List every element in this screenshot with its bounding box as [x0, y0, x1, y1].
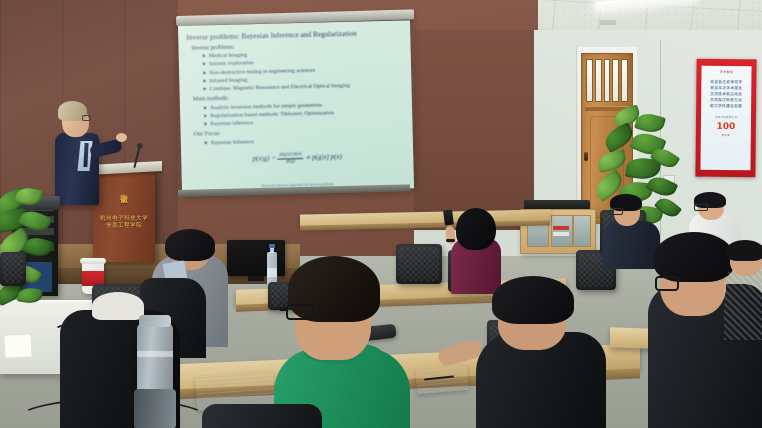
- poster-subtitle: 信息工程学院主办: [715, 114, 737, 118]
- formula-denominator: p(g): [278, 159, 304, 165]
- door-glass-pane: [604, 59, 611, 102]
- torso: [602, 221, 660, 269]
- chair[interactable]: [396, 244, 442, 284]
- thermos-base: [134, 389, 176, 428]
- poster-header: 学术报告: [720, 70, 733, 74]
- smartphone-icon[interactable]: [443, 210, 454, 226]
- bottle-cap: [269, 244, 275, 248]
- hair: [654, 232, 734, 282]
- door-glass-pane: [621, 59, 628, 102]
- door-handle[interactable]: [584, 152, 588, 161]
- bottle-label: [267, 268, 277, 277]
- formula-fraction: p(g|x) p(x) p(g): [277, 152, 303, 165]
- poster-logo: 100: [716, 122, 735, 131]
- thermos-band: [137, 351, 173, 357]
- cabinet-glass-door[interactable]: [573, 215, 591, 247]
- podium-text: 杭州电子科技大学 信息工程学院: [97, 216, 151, 231]
- formula-lhs: p(x|g): [253, 155, 270, 163]
- glasses-icon: [655, 276, 679, 291]
- chair[interactable]: [0, 252, 26, 286]
- hair: [726, 240, 762, 261]
- torso: [724, 268, 762, 340]
- door-glass-panels: [586, 59, 628, 102]
- glasses-icon: [610, 208, 623, 215]
- podium-text-line: 信息工程学院: [97, 223, 151, 230]
- presentation-slide: Inverse problems: Bayesian Inference and…: [186, 29, 406, 188]
- poster-body: 欢迎各位老师同学 参加本次学术报告 交流技术前沿动态 共同探讨科研方向 助力学科…: [710, 79, 742, 110]
- glasses-icon: [694, 204, 708, 211]
- poster-inner: 学术报告 欢迎各位老师同学 参加本次学术报告 交流技术前沿动态 共同探讨科研方向…: [700, 66, 751, 171]
- glasses-icon: [286, 304, 314, 320]
- paper-note: [3, 333, 32, 358]
- torso: [202, 404, 322, 428]
- hair: [165, 229, 215, 261]
- hair: [492, 276, 574, 324]
- shoulder-cloth: [92, 292, 144, 320]
- poster-body-line: 助力学科建设发展: [710, 103, 742, 109]
- door-glass-pane: [586, 59, 593, 102]
- podium: 徽 杭州电子科技大学 信息工程学院: [93, 170, 155, 262]
- thermos-flask: [137, 323, 173, 428]
- door-glass-pane: [595, 59, 602, 102]
- monitor-stand: [248, 276, 264, 281]
- formula-equals: =: [271, 155, 276, 163]
- thermos-cap: [139, 315, 171, 327]
- glasses-icon: [82, 115, 91, 121]
- projection-screen: Inverse problems: Bayesian Inference and…: [178, 20, 414, 194]
- glasses-temple: [280, 308, 288, 311]
- water-bottle: [267, 252, 277, 286]
- cabinet-item: [553, 232, 569, 236]
- wristband: [446, 239, 455, 242]
- lecture-hall-photo: 学术报告 欢迎各位老师同学 参加本次学术报告 交流技术前沿动态 共同探讨科研方向…: [0, 0, 762, 428]
- ceiling-vent: [600, 20, 616, 25]
- cabinet-glass-door[interactable]: [551, 215, 573, 247]
- slide-formula: p(x|g) = p(g|x) p(x) p(g) ∝ p(g|x) p(x): [189, 150, 405, 167]
- university-emblem-icon: 徽: [101, 196, 147, 204]
- hair: [456, 208, 496, 250]
- poster-logo-subtitle: 周年庆: [722, 133, 730, 137]
- speaker-hand: [116, 133, 127, 142]
- formula-tail: ∝ p(g|x) p(x): [305, 153, 342, 162]
- door-glass-pane: [612, 59, 619, 102]
- wall-panel-right-wood: [414, 30, 534, 230]
- cabinet-item: [553, 226, 569, 230]
- red-announcement-poster: 学术报告 欢迎各位老师同学 参加本次学术报告 交流技术前沿动态 共同探讨科研方向…: [695, 59, 756, 178]
